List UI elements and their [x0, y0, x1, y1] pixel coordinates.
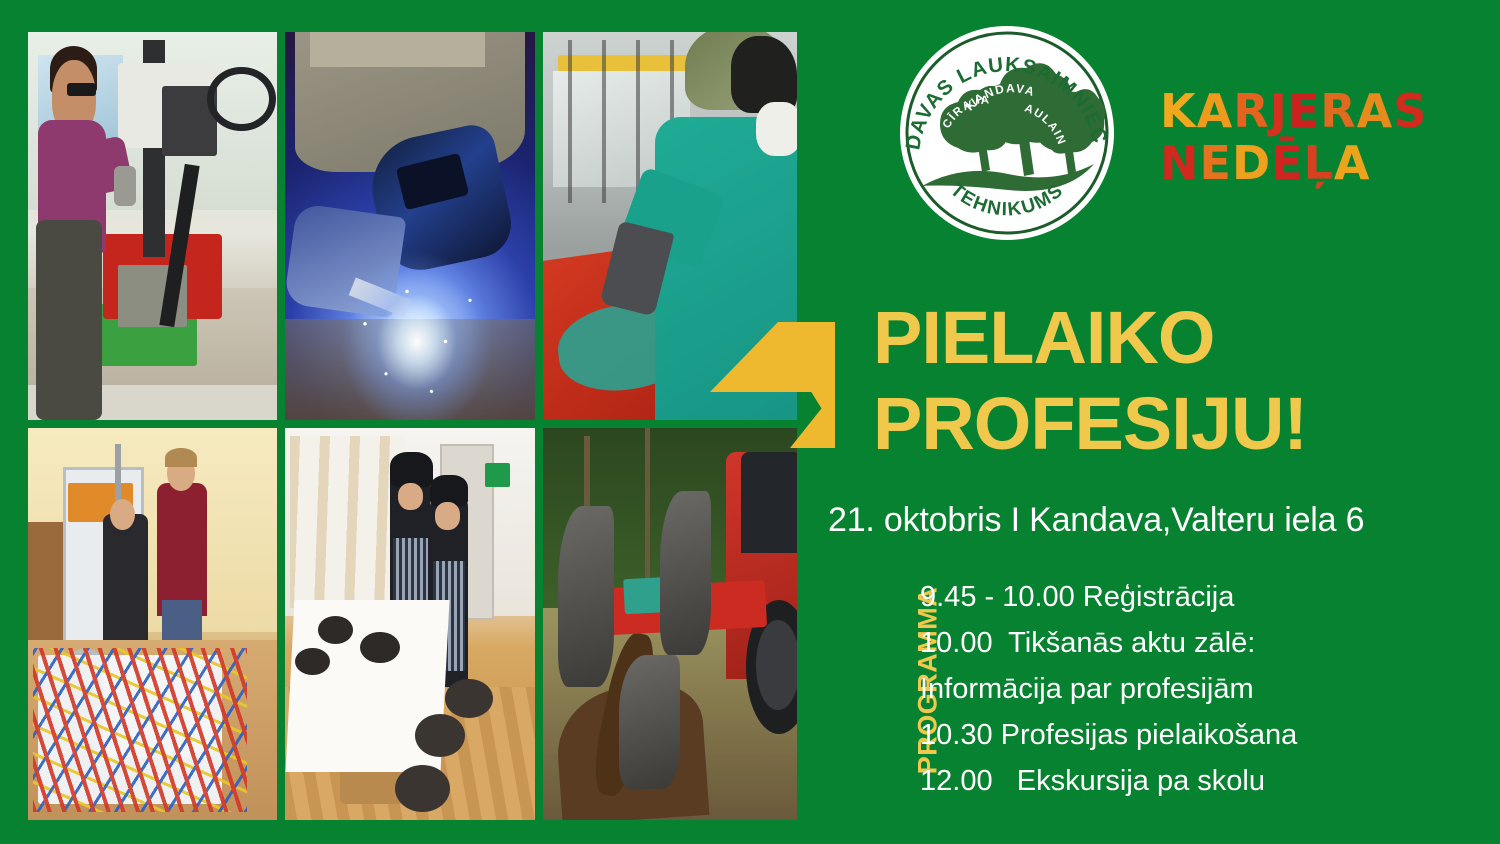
nedela-letter-3: Ē [1271, 137, 1303, 189]
nedela-letter-0: N [1160, 137, 1200, 189]
nedela-letter-1: E [1200, 137, 1232, 189]
photo-collage [0, 0, 800, 844]
photo-electrical-lab [28, 428, 277, 820]
karjeras-letter-6: A [1357, 85, 1394, 137]
headline-line-2: PROFESIJU! [873, 381, 1493, 467]
program-item: 10.00 Tikšanās aktu zālē: [920, 620, 1480, 666]
school-logo: KANDAVAS LAUKSAIMNIECĪBAS TEHNIKUMS CĪRA… [892, 18, 1122, 248]
program-item: 12.00 Ekskursija pa skolu [920, 758, 1480, 804]
program-list: 9.45 - 10.00 Reģistrācija10.00 Tikšanās … [920, 574, 1480, 804]
program-item: 9.45 - 10.00 Reģistrācija [920, 574, 1480, 620]
photo-metalworking-drill-press [28, 32, 277, 420]
photo-welding-sparks [285, 32, 535, 420]
wordmark-line-2: NEDĒĻA [1160, 137, 1500, 189]
page-title: PIELAIKO PROFESIJU! [873, 295, 1493, 467]
date-venue-line: 21. oktobris I Kandava,Valteru iela 6 [828, 500, 1488, 540]
karjeras-letter-3: J [1270, 85, 1288, 137]
nedela-letter-5: A [1334, 137, 1371, 189]
karjeras-letter-2: R [1233, 85, 1269, 137]
karjeras-nedela-wordmark: KARJERAS NEDĒĻA [1160, 85, 1500, 189]
photo-culinary-students [285, 428, 535, 820]
karjeras-letter-0: K [1160, 85, 1197, 137]
headline-line-1: PIELAIKO [873, 295, 1493, 381]
nedela-letter-4: Ļ [1304, 137, 1334, 189]
karjeras-letter-1: A [1197, 85, 1234, 137]
karjeras-letter-4: E [1288, 85, 1320, 137]
karjeras-letter-7: S [1393, 85, 1427, 137]
double-chevron-left-icon [690, 318, 870, 463]
program-section: PROGRAMMA 9.45 - 10.00 Reģistrācija10.00… [860, 570, 1480, 820]
wordmark-line-1: KARJERAS [1160, 85, 1500, 137]
program-item: 10.30 Profesijas pielaikošana [920, 712, 1480, 758]
program-item: Informācija par profesijām [920, 666, 1480, 712]
poster-root: KANDAVAS LAUKSAIMNIECĪBAS TEHNIKUMS CĪRA… [0, 0, 1500, 844]
karjeras-letter-5: R [1320, 85, 1356, 137]
nedela-letter-2: D [1232, 137, 1271, 189]
photo-plough-tractor [543, 428, 797, 820]
